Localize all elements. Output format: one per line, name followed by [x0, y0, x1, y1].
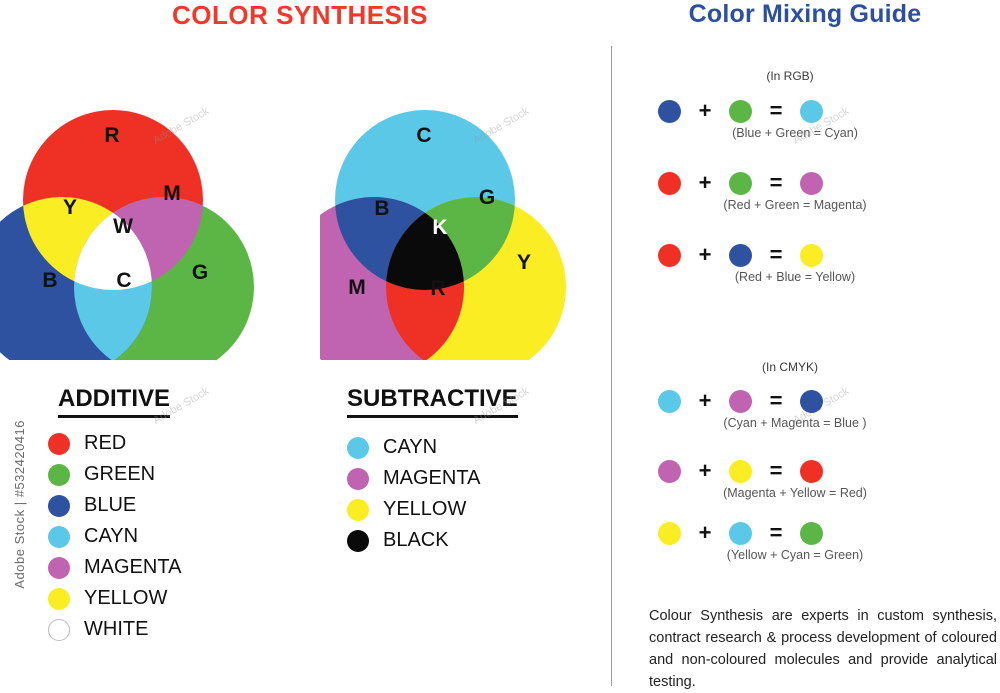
legend-item: GREEN — [48, 459, 181, 490]
legend-item: WHITE — [48, 614, 181, 645]
mix-row-rgb-1: + = (Blue + Green = Cyan) — [640, 98, 990, 144]
legend-item: YELLOW — [48, 583, 181, 614]
swatch-blue-icon — [48, 495, 70, 517]
mix-dot-red-icon — [658, 244, 681, 267]
plus-sign: + — [681, 170, 729, 196]
swatch-magenta-icon — [347, 468, 369, 490]
mix-caption: (Magenta + Yellow = Red) — [640, 486, 950, 500]
plus-sign: + — [681, 242, 729, 268]
plus-sign: + — [681, 520, 729, 546]
mix-dot-blue-icon — [729, 244, 752, 267]
additive-legend: RED GREEN BLUE CAYN MAGENTA YELLOW WHITE — [48, 428, 181, 645]
mix-dot-yellow-icon — [729, 460, 752, 483]
mix-dot-cyan-icon — [729, 522, 752, 545]
page-title-right: Color Mixing Guide — [610, 0, 1000, 29]
legend-label: BLUE — [84, 494, 136, 517]
mix-row-cmyk-1: + = (Cyan + Magenta = Blue ) — [640, 388, 990, 434]
mix-caption: (Red + Blue = Yellow) — [640, 270, 950, 284]
legend-item: MAGENTA — [48, 552, 181, 583]
equals-sign: = — [752, 388, 800, 414]
equals-sign: = — [752, 520, 800, 546]
legend-label: MAGENTA — [84, 556, 181, 579]
legend-label: GREEN — [84, 463, 155, 486]
swatch-cyan-icon — [347, 437, 369, 459]
subtractive-legend: CAYN MAGENTA YELLOW BLACK — [347, 432, 480, 556]
mix-dot-cyan-icon — [658, 390, 681, 413]
legend-item: BLUE — [48, 490, 181, 521]
page-title-left: COLOR SYNTHESIS — [0, 0, 600, 31]
mix-row-rgb-2: + = (Red + Green = Magenta) — [640, 170, 990, 216]
mix-dot-blue-icon — [658, 100, 681, 123]
mix-dot-magenta-icon — [729, 390, 752, 413]
swatch-white-icon — [48, 619, 70, 641]
mix-caption: (Blue + Green = Cyan) — [640, 126, 950, 140]
mix-caption: (Red + Green = Magenta) — [640, 198, 950, 212]
plus-sign: + — [681, 98, 729, 124]
mix-dot-cyan-icon — [800, 100, 823, 123]
legend-item: CAYN — [347, 432, 480, 463]
rgb-section-header: (In RGB) — [640, 69, 940, 83]
legend-item: CAYN — [48, 521, 181, 552]
legend-label: YELLOW — [84, 587, 167, 610]
mix-dot-yellow-icon — [658, 522, 681, 545]
swatch-yellow-icon — [347, 499, 369, 521]
mix-dot-green-icon — [729, 100, 752, 123]
legend-item: MAGENTA — [347, 463, 480, 494]
mix-dot-green-icon — [800, 522, 823, 545]
legend-label: BLACK — [383, 529, 449, 552]
mix-dot-yellow-icon — [800, 244, 823, 267]
legend-label: MAGENTA — [383, 467, 480, 490]
legend-item: RED — [48, 428, 181, 459]
legend-label: WHITE — [84, 618, 148, 641]
vertical-divider — [611, 46, 612, 686]
mix-dot-magenta-icon — [800, 172, 823, 195]
mix-row-rgb-3: + = (Red + Blue = Yellow) — [640, 242, 990, 288]
swatch-black-icon — [347, 530, 369, 552]
subtractive-legend-title: SUBTRACTIVE — [347, 385, 518, 418]
legend-label: RED — [84, 432, 126, 455]
swatch-yellow-icon — [48, 588, 70, 610]
swatch-magenta-icon — [48, 557, 70, 579]
legend-item: YELLOW — [347, 494, 480, 525]
mix-caption: (Yellow + Cyan = Green) — [640, 548, 950, 562]
mix-row-cmyk-3: + = (Yellow + Cyan = Green) — [640, 520, 990, 566]
equals-sign: = — [752, 458, 800, 484]
mix-dot-red-icon — [658, 172, 681, 195]
swatch-cyan-icon — [48, 526, 70, 548]
plus-sign: + — [681, 458, 729, 484]
mix-row-cmyk-2: + = (Magenta + Yellow = Red) — [640, 458, 990, 504]
equals-sign: = — [752, 170, 800, 196]
about-paragraph: Colour Synthesis are experts in custom s… — [649, 605, 997, 693]
mix-dot-green-icon — [729, 172, 752, 195]
equals-sign: = — [752, 242, 800, 268]
legend-label: CAYN — [84, 525, 138, 548]
mix-caption: (Cyan + Magenta = Blue ) — [640, 416, 950, 430]
plus-sign: + — [681, 388, 729, 414]
subtractive-venn-diagram — [320, 60, 590, 360]
mix-dot-magenta-icon — [658, 460, 681, 483]
stock-watermark-id: Adobe Stock | #532420416 — [12, 420, 27, 589]
cmyk-section-header: (In CMYK) — [640, 360, 940, 374]
legend-label: CAYN — [383, 436, 437, 459]
legend-label: YELLOW — [383, 498, 466, 521]
legend-item: BLACK — [347, 525, 480, 556]
mix-dot-red-icon — [800, 460, 823, 483]
swatch-red-icon — [48, 433, 70, 455]
additive-venn-diagram — [0, 60, 260, 360]
swatch-green-icon — [48, 464, 70, 486]
mix-dot-blue-icon — [800, 390, 823, 413]
equals-sign: = — [752, 98, 800, 124]
additive-legend-title: ADDITIVE — [58, 385, 170, 418]
